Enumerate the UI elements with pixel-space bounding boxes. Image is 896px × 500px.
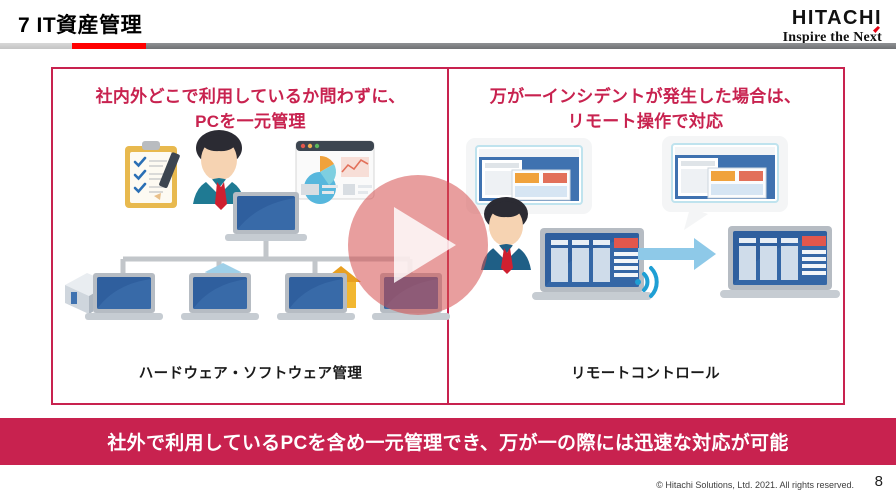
page-title: 7 IT資産管理 xyxy=(18,9,142,39)
video-play-button[interactable] xyxy=(348,175,488,315)
play-icon xyxy=(394,207,456,283)
clipboard-checklist-icon xyxy=(125,141,180,208)
hitachi-logo: HITACHI Inspire the Next xyxy=(783,8,882,47)
laptop-icon xyxy=(181,273,259,320)
screen-callout-icon xyxy=(662,136,788,230)
dashboard-window-icon xyxy=(296,141,374,204)
rule-segment-right xyxy=(146,43,896,49)
laptop-icon xyxy=(532,228,652,300)
panel-remote-control: 万が一インシデントが発生した場合は、 リモート操作で対応 xyxy=(448,69,843,403)
laptop-icon xyxy=(225,192,307,241)
header-rule xyxy=(0,43,896,49)
slide: 7 IT資産管理 HITACHI Inspire the Next 社内外どこで… xyxy=(0,0,896,500)
summary-banner-text: 社外で利用しているPCを含め一元管理でき、万が一の際には迅速な対応が可能 xyxy=(107,428,788,455)
rule-segment-red xyxy=(72,43,146,49)
laptop-icon xyxy=(720,226,840,298)
right-panel-heading: 万が一インシデントが発生した場合は、 リモート操作で対応 xyxy=(490,85,801,134)
copyright-text: © Hitachi Solutions, Ltd. 2021. All righ… xyxy=(656,480,854,490)
operator-person-icon xyxy=(481,197,531,274)
laptop-icon xyxy=(85,273,163,320)
left-panel-caption: ハードウェア・ソフトウェア管理 xyxy=(139,362,363,383)
right-panel-illustration xyxy=(448,134,843,362)
right-panel-caption: リモートコントロール xyxy=(571,362,720,383)
page-number: 8 xyxy=(875,473,883,490)
rule-segment-left xyxy=(0,43,72,49)
summary-banner: 社外で利用しているPCを含め一元管理でき、万が一の際には迅速な対応が可能 xyxy=(0,418,896,465)
left-panel-heading: 社内外どこで利用しているか問わずに、 PCを一元管理 xyxy=(96,85,406,134)
laptop-icon xyxy=(277,273,355,320)
arrow-right-icon xyxy=(638,238,716,270)
logo-wordmark: HITACHI xyxy=(783,8,882,28)
